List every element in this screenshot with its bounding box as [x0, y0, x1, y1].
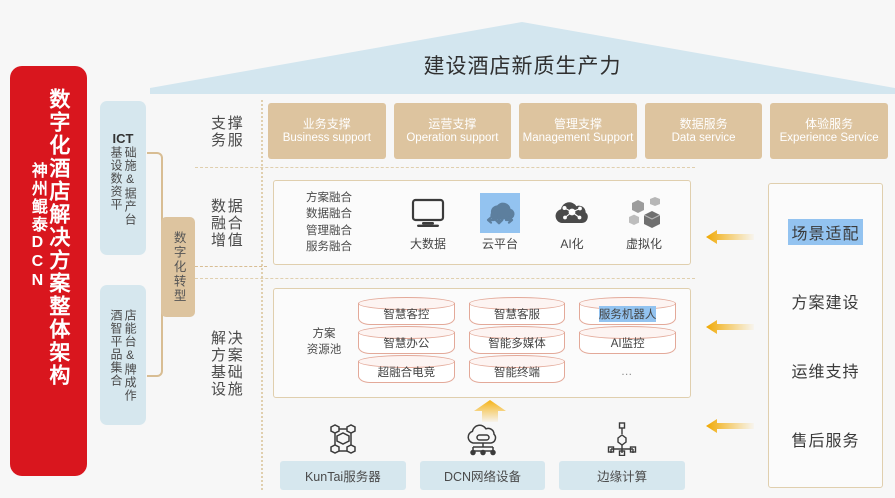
stage-chip-hotel-col-left: 酒智平品集合	[109, 309, 123, 402]
pool-item-smart-office[interactable]: 智慧办公	[358, 332, 455, 354]
pool-item-smart-terminal[interactable]: 智能终端	[469, 361, 566, 383]
row-label-fusion-col-left: 数融增	[208, 198, 225, 249]
pool-item-label: 智慧办公	[383, 335, 429, 351]
fusion-item-cloud[interactable]: 云平台	[464, 193, 536, 252]
pool-item-service-robot[interactable]: 服务机器人	[579, 303, 676, 325]
support-card-experience[interactable]: 体验服务 Experience Service	[770, 103, 888, 159]
pool-grid: 智慧客控 智慧客服 服务机器人 智慧办公 智能多媒体 AI监控 超融合电竞 智能…	[358, 303, 676, 383]
support-card-management-cn: 管理支撑	[554, 117, 602, 132]
infra-item-dcn-network[interactable]: DCN网络设备	[420, 420, 546, 490]
roof-shape: 建设酒店新质生产力	[150, 22, 895, 94]
solution-resource-pool-panel: 方案 资源池 智慧客控 智慧客服 服务机器人 智慧办公 智能多媒体 AI监控 超…	[273, 288, 691, 398]
left-arrow-icon-2	[706, 319, 754, 335]
support-card-operation-en: Operation support	[406, 131, 498, 145]
support-card-operation-cn: 运营支撑	[428, 117, 476, 132]
fusion-item-virtualization-caption: 虚拟化	[626, 235, 662, 252]
pool-item-label: 服务机器人	[599, 306, 657, 322]
server-nodes-icon	[326, 420, 360, 456]
roof-title: 建设酒店新质生产力	[150, 22, 895, 94]
stage-chip-hotel[interactable]: 店能台&牌成作 酒智平品集合	[100, 285, 146, 425]
pool-item-label: 超融合电竞	[378, 364, 436, 380]
pool-item-smart-multimedia[interactable]: 智能多媒体	[469, 332, 566, 354]
service-item-scenario-adaptation[interactable]: 场景适配	[788, 219, 862, 245]
pool-item-label: AI监控	[611, 335, 645, 351]
support-card-business[interactable]: 业务支撑 Business support	[268, 103, 386, 159]
transform-connector-line	[195, 266, 267, 267]
banner-sub-title: 神州鲲泰DCN	[28, 162, 45, 291]
vertical-dotted-divider	[261, 100, 263, 490]
row-label-solution: 决案础施 解方基设	[199, 310, 251, 418]
support-card-data-cn: 数据服务	[680, 117, 728, 132]
support-card-experience-cn: 体验服务	[805, 117, 853, 132]
digital-transformation-label: 数字化转型	[171, 231, 184, 304]
pool-item-label: …	[621, 366, 635, 378]
fusion-item-bigdata-caption: 大数据	[410, 235, 446, 252]
pool-item-smart-customer-service[interactable]: 智慧客服	[469, 303, 566, 325]
pool-item-label: 智慧客控	[383, 306, 429, 322]
pool-item-label: 智能终端	[494, 364, 540, 380]
row-label-support-col-right: 撑服	[225, 115, 242, 149]
pool-item-smart-room-control[interactable]: 智慧客控	[358, 303, 455, 325]
fusion-item-ai[interactable]: AI化	[536, 193, 608, 252]
support-card-management[interactable]: 管理支撑 Management Support	[519, 103, 637, 159]
data-fusion-panel: 方案融合 数据融合 管理融合 服务融合 大数据 云平台	[273, 180, 691, 265]
left-arrow-icon-3	[706, 418, 754, 434]
stage-chip-ict-col-left: 基设数资平	[109, 146, 123, 226]
infrastructure-row: KunTai服务器 DCN网络设备	[280, 420, 685, 490]
fusion-item-virtualization[interactable]: 虚拟化	[608, 193, 680, 252]
banner-main-title: 数字化酒店解决方案整体架构	[47, 88, 69, 387]
service-item-after-sales[interactable]: 售后服务	[788, 426, 862, 452]
architecture-title-banner: 数字化酒店解决方案整体架构 神州鲲泰DCN	[10, 66, 87, 476]
support-card-management-en: Management Support	[523, 131, 634, 145]
infra-item-dcn-network-caption: DCN网络设备	[420, 461, 546, 490]
fusion-item-ai-caption: AI化	[560, 235, 583, 252]
row-label-solution-col-right: 决案础施	[225, 330, 242, 398]
horizontal-divider-2	[195, 278, 695, 279]
fusion-text-lines: 方案融合 数据融合 管理融合 服务融合	[306, 190, 392, 255]
fusion-item-bigdata[interactable]: 大数据	[392, 193, 464, 252]
left-arrow-icon-1	[706, 229, 754, 245]
support-card-data[interactable]: 数据服务 Data service	[645, 103, 763, 159]
row-label-support-col-left: 支务	[208, 115, 225, 149]
network-cloud-icon	[464, 420, 502, 456]
pool-item-label: 智慧客服	[494, 306, 540, 322]
stage-chip-hotel-col-right: 店能台&牌成作	[123, 309, 137, 402]
horizontal-divider-1	[195, 167, 695, 168]
support-services-row: 业务支撑 Business support 运营支撑 Operation sup…	[268, 103, 888, 159]
row-label-solution-col-left: 解方基设	[208, 330, 225, 398]
pool-item-ai-monitoring[interactable]: AI监控	[579, 332, 676, 354]
infra-item-edge-computing-caption: 边缘计算	[559, 461, 685, 490]
stage-chip-ict-col-right: 础施&据产台	[123, 146, 137, 226]
row-label-support: 撑服 支务	[199, 106, 251, 158]
cloud-icon	[480, 193, 520, 233]
monitor-icon	[411, 193, 445, 233]
support-card-business-cn: 业务支撑	[303, 117, 351, 132]
fusion-item-cloud-caption: 云平台	[482, 235, 518, 252]
pool-item-label: 智能多媒体	[488, 335, 546, 351]
stage-chip-ict-head: ICT	[113, 131, 134, 146]
service-item-solution-construction[interactable]: 方案建设	[788, 288, 862, 314]
infra-item-kuntai-server-caption: KunTai服务器	[280, 461, 406, 490]
row-label-fusion: 据合值 数融增	[199, 192, 251, 254]
pool-item-more: …	[579, 361, 676, 383]
support-card-operation[interactable]: 运营支撑 Operation support	[394, 103, 512, 159]
infra-item-kuntai-server[interactable]: KunTai服务器	[280, 420, 406, 490]
infra-item-edge-computing[interactable]: 边缘计算	[559, 420, 685, 490]
upward-arrow-icon	[472, 400, 508, 422]
support-card-business-en: Business support	[283, 131, 371, 145]
cubes-icon	[626, 193, 662, 233]
right-services-panel: 场景适配 方案建设 运维支持 售后服务	[768, 183, 883, 488]
service-item-operation-support[interactable]: 运维支持	[788, 357, 862, 383]
stage-chip-ict[interactable]: ICT 础施&据产台 基设数资平	[100, 101, 146, 255]
pool-label: 方案 资源池	[296, 327, 352, 358]
edge-compute-icon	[605, 420, 639, 456]
support-card-data-en: Data service	[672, 131, 736, 145]
support-card-experience-en: Experience Service	[780, 131, 879, 145]
row-label-fusion-col-right: 据合值	[225, 198, 242, 249]
digital-transformation-box[interactable]: 数字化转型	[161, 217, 195, 317]
pool-item-hci-esports[interactable]: 超融合电竞	[358, 361, 455, 383]
ai-cloud-icon	[553, 193, 591, 233]
